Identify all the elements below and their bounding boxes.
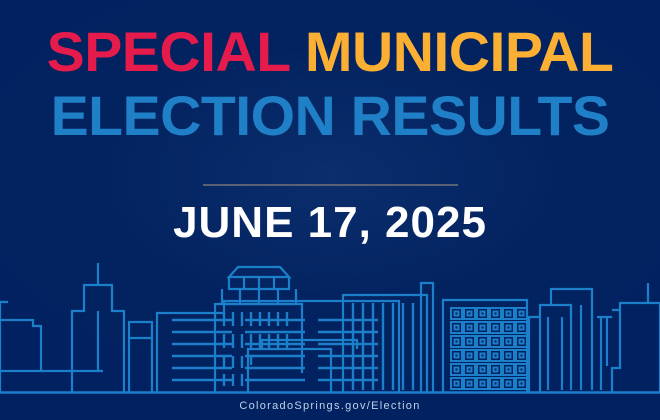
building-crowned-landmark	[215, 267, 302, 392]
building-far-right-antenna-tower	[612, 283, 660, 392]
building-narrow-connector	[129, 322, 152, 392]
building-spire-tower	[72, 263, 124, 392]
building-left-edge-sliver	[0, 302, 8, 392]
building-far-left	[0, 320, 103, 371]
election-date: JUNE 17, 2025	[0, 198, 660, 248]
divider-rule	[203, 184, 458, 186]
building-right-slab-cluster	[529, 289, 612, 392]
building-grid-windows	[443, 300, 527, 392]
footer-url[interactable]: ColoradoSprings.gov/Election	[0, 399, 660, 413]
election-results-poster: SPECIALMUNICIPAL ELECTION RESULTS JUNE 1…	[0, 0, 660, 420]
